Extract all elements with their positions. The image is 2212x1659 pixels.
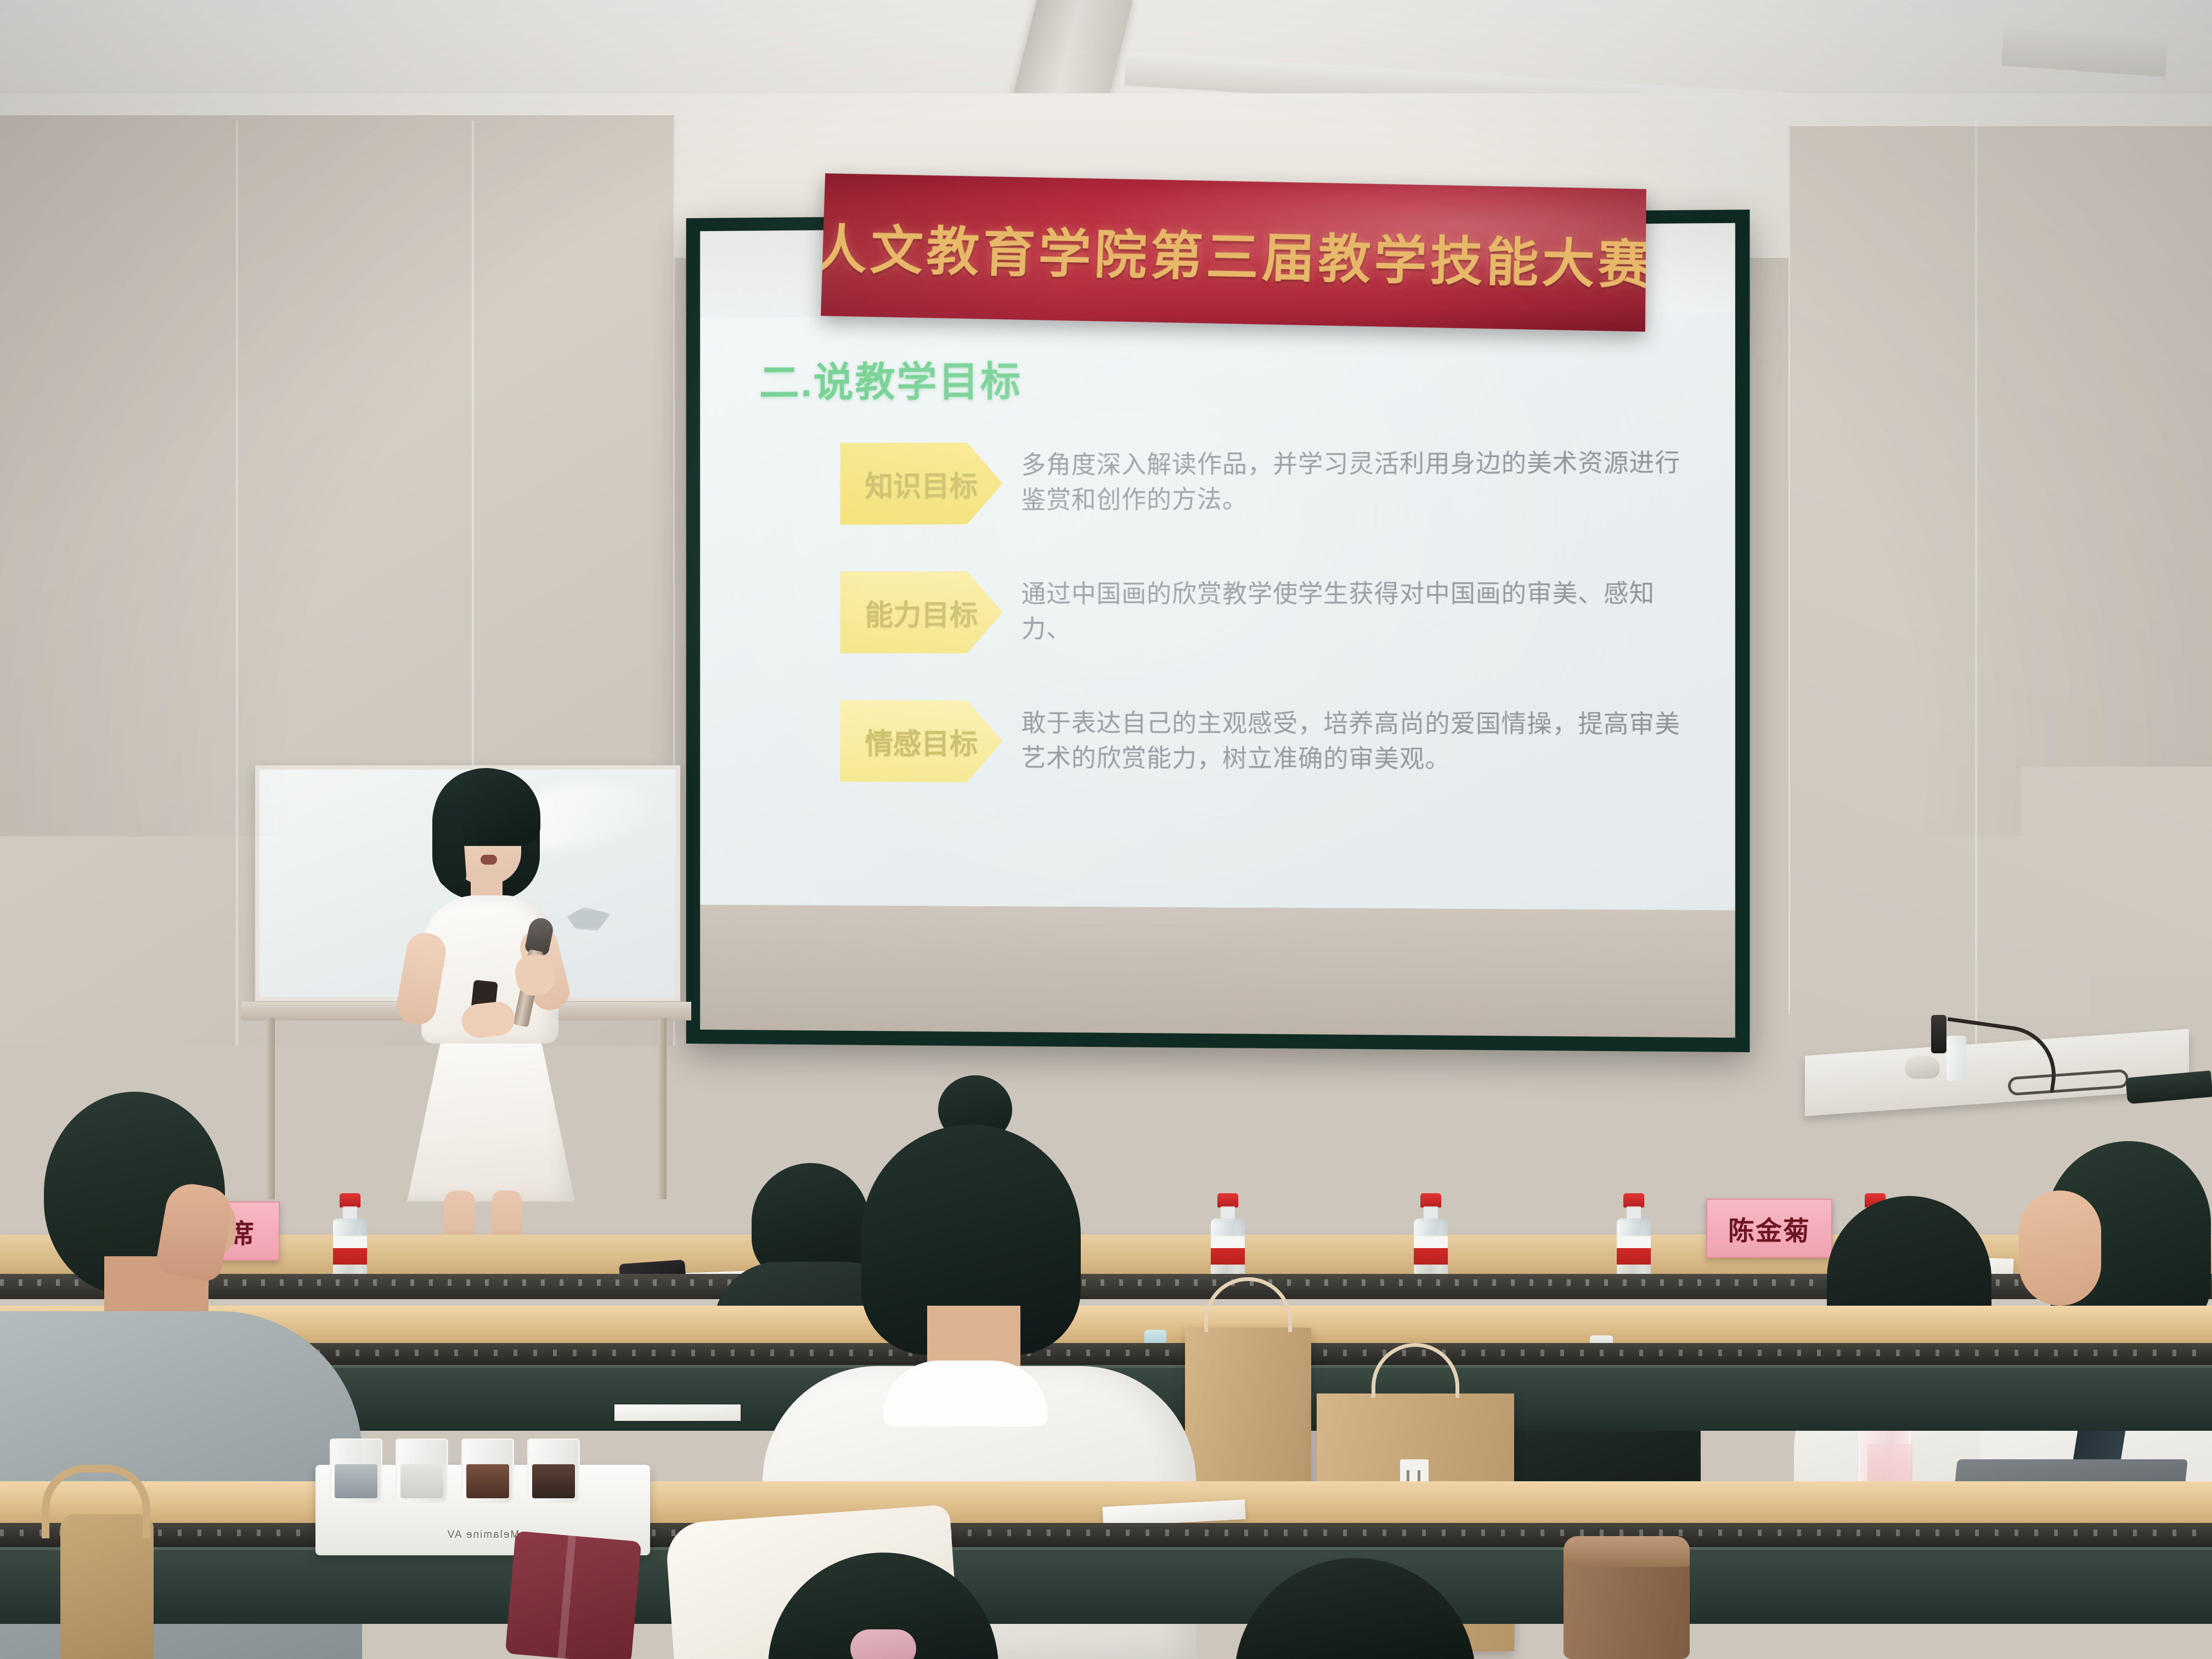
bottle-label [1211, 1236, 1245, 1265]
computer-mouse-icon[interactable] [1905, 1056, 1940, 1079]
bottle-label [1617, 1236, 1651, 1265]
head [1234, 1558, 1476, 1659]
presenter-skirt [407, 1026, 575, 1201]
event-banner: 人文教育学院第三届教学技能大赛 [821, 173, 1646, 332]
screen-bottom-band [700, 905, 1735, 1037]
wall-panel-right [1788, 126, 2212, 1015]
goal-row: 能力目标 通过中国画的欣赏教学使学生获得对中国画的审美、感知力、 [759, 571, 1685, 653]
audience-head-foreground [768, 1553, 998, 1659]
water-bottle [1413, 1193, 1449, 1281]
mug-lid [1564, 1536, 1690, 1567]
screen-surface: 二.说教学目标 知识目标 多角度深入解读作品，并学习灵活利用身边的美术资源进行鉴… [700, 223, 1735, 1038]
presenter [379, 768, 609, 1278]
cup [396, 1438, 448, 1504]
papers-on-desk [614, 1404, 741, 1421]
cup-contents [532, 1464, 575, 1498]
goal-text-emotion: 敢于表达自己的主观感受，培养高尚的爱国情操，提高审美艺术的欣赏能力，树立准确的审… [1022, 707, 1685, 778]
gooseneck-microphone-base [1931, 1015, 1946, 1053]
water-bottle [1616, 1193, 1652, 1281]
water-bottle [1210, 1193, 1246, 1281]
bottle-cap [1217, 1193, 1238, 1207]
audience-head-foreground [2096, 1564, 2212, 1659]
banner-text: 人文教育学院第三届教学技能大赛 [821, 206, 1646, 298]
goal-text-ability: 通过中国画的欣赏教学使学生获得对中国画的审美、感知力、 [1022, 577, 1685, 647]
cup [527, 1438, 580, 1504]
hair-scrunchie [850, 1629, 916, 1659]
cup-contents [335, 1464, 377, 1498]
projector-screen: 二.说教学目标 知识目标 多角度深入解读作品，并学习灵活利用身边的美术资源进行鉴… [686, 210, 1750, 1052]
lectern-bottle [1946, 1036, 1966, 1081]
bottle-label [1414, 1236, 1448, 1265]
foreground-paper-bag [60, 1514, 154, 1659]
wall-seam [1975, 121, 1977, 1053]
goal-row: 情感目标 敢于表达自己的主观感受，培养高尚的爱国情操，提高审美艺术的欣赏能力，树… [759, 700, 1685, 785]
goal-tag-knowledge: 知识目标 [840, 442, 1002, 524]
goal-row: 知识目标 多角度深入解读作品，并学习灵活利用身边的美术资源进行鉴赏和创作的方法。 [759, 440, 1685, 525]
red-folder [505, 1531, 642, 1659]
bottle-cap [1420, 1193, 1441, 1207]
cup-contents [400, 1464, 443, 1498]
travel-mug [1564, 1536, 1690, 1659]
head [2096, 1564, 2212, 1659]
goal-text-knowledge: 多角度深入解读作品，并学习灵活利用身边的美术资源进行鉴赏和创作的方法。 [1022, 446, 1685, 518]
goal-tag-emotion: 情感目标 [840, 700, 1002, 782]
presenter-mouth [481, 855, 497, 865]
cup-contents [466, 1464, 509, 1498]
seat-back-row-3 [0, 1547, 2212, 1624]
cup [330, 1438, 382, 1504]
audience-head-foreground [1234, 1558, 1476, 1659]
presenter-hair-side [432, 800, 467, 889]
lecture-hall-photo: 二.说教学目标 知识目标 多角度深入解读作品，并学习灵活利用身边的美术资源进行鉴… [0, 0, 2212, 1659]
face [2019, 1190, 2101, 1306]
slide-title: 二.说教学目标 [759, 345, 1685, 408]
cup [461, 1438, 514, 1504]
presentation-slide: 二.说教学目标 知识目标 多角度深入解读作品，并学习灵活利用身边的美术资源进行鉴… [700, 312, 1735, 938]
wall-seam [236, 121, 238, 1053]
bottle-cap [1623, 1193, 1644, 1207]
shirt-collar [883, 1361, 1048, 1426]
goal-tag-ability: 能力目标 [840, 571, 1002, 653]
